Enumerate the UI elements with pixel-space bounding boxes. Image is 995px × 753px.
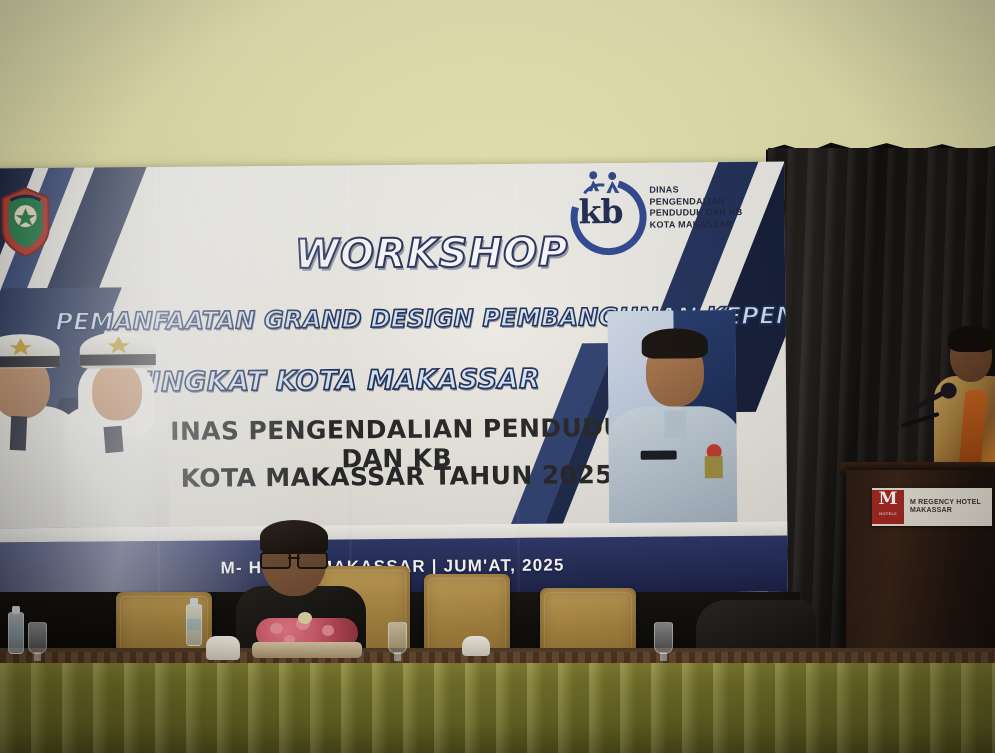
podium-logo-sub: HOTELS [879, 507, 897, 522]
marriott-m-logo-icon: M HOTELS [872, 490, 904, 524]
banner-portrait-vice-mayor [63, 322, 169, 528]
kb-org-line-2: PENGENDALIAN [649, 195, 742, 207]
eyeglasses-icon [260, 552, 328, 565]
podium-hotel-sign: M HOTELS M REGENCY HOTEL MAKASSAR [872, 488, 992, 526]
cap-emblem-icon [8, 336, 34, 356]
kb-org-line-1: DINAS [649, 184, 742, 196]
podium-sign-line-2: MAKASSAR [910, 507, 981, 516]
napkin [462, 636, 490, 656]
kb-org-line-4: KOTA MAKASSAR [650, 218, 743, 230]
water-glass [654, 622, 673, 654]
podium-logo-letter: M [879, 492, 898, 507]
water-bottle [8, 612, 24, 654]
kb-org-line-3: PENDUDUK DAN KB [650, 207, 743, 219]
kb-logo-icon: kb [566, 171, 641, 246]
banner-heading: WORKSHOP [295, 229, 569, 277]
event-photo: kb DINAS PENGENDALIAN PENDUDUK DAN KB KO… [0, 0, 995, 753]
event-banner: kb DINAS PENGENDALIAN PENDUDUK DAN KB KO… [0, 162, 788, 599]
kb-logo-text: kb [578, 195, 622, 228]
banner-portrait-agency-head [607, 310, 737, 523]
napkin [206, 636, 240, 660]
table-skirt [0, 663, 995, 753]
podium-sign-line-1: M REGENCY HOTEL [910, 499, 981, 508]
speaker-at-podium [928, 330, 995, 480]
water-glass [388, 622, 407, 654]
flower-arrangement [252, 612, 362, 658]
kb-org-name: DINAS PENGENDALIAN PENDUDUK DAN KB KOTA … [649, 184, 742, 231]
banner-org-line-2: KOTA MAKASSAR TAHUN 2025 [147, 460, 647, 493]
water-bottle [186, 604, 202, 646]
water-glass [28, 622, 47, 654]
podium-sign-text: M REGENCY HOTEL MAKASSAR [910, 499, 981, 516]
makassar-city-crest [0, 186, 53, 258]
kb-logo-block: kb DINAS PENGENDALIAN PENDUDUK DAN KB KO… [566, 170, 743, 246]
banner-portrait-mayor [0, 328, 71, 529]
cap-emblem-icon [106, 334, 132, 354]
